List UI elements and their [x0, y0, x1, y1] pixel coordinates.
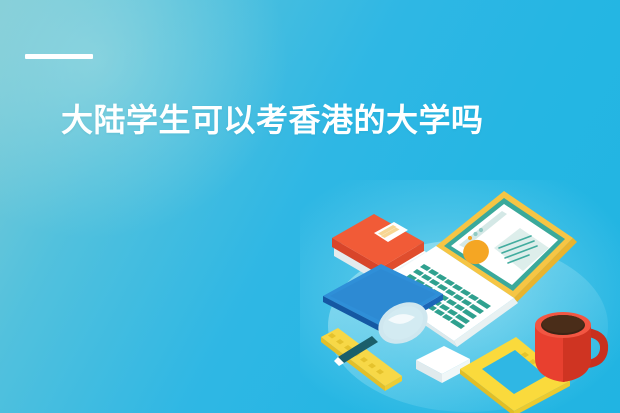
- banner: 大陆学生可以考香港的大学吗: [0, 0, 620, 413]
- accent-rule: [25, 54, 93, 59]
- page-title: 大陆学生可以考香港的大学吗: [61, 103, 484, 137]
- illustration-study-desk: [318, 186, 620, 413]
